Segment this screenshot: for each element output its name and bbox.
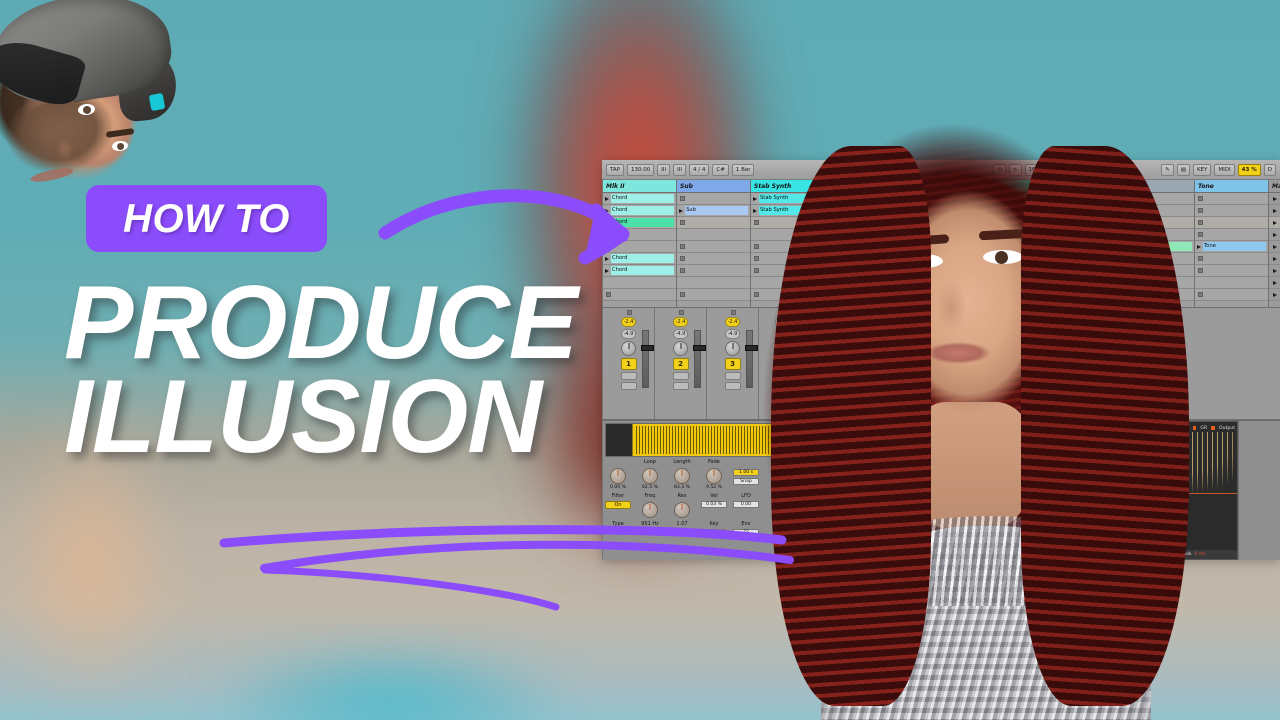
badge-label: HOW TO xyxy=(123,199,290,239)
clip-slot[interactable]: Chord xyxy=(603,205,676,217)
loop-knob[interactable] xyxy=(642,468,658,484)
clip-slot[interactable]: Chord xyxy=(603,253,676,265)
tap-button[interactable]: TAP xyxy=(606,164,624,176)
res-value: 1.07 xyxy=(669,521,695,527)
how-to-badge: HOW TO xyxy=(86,185,327,252)
stop-icon[interactable] xyxy=(680,196,685,201)
hair-front-left xyxy=(771,146,931,706)
woman-portrait xyxy=(735,86,1280,720)
thumbnail-canvas: TAP 130.00 III III 4 / 4 C# 1 Bar → 22 ⟲… xyxy=(0,0,1280,720)
fade-value: 9.52 % xyxy=(701,485,727,490)
res-knob[interactable] xyxy=(674,502,690,518)
title-line-1: PRODUCE xyxy=(64,276,764,370)
freq-label: Freq xyxy=(637,493,663,499)
track-header-label[interactable]: Mlk II xyxy=(603,180,676,193)
key-field[interactable]: C# xyxy=(712,164,728,176)
stop-icon[interactable] xyxy=(680,256,685,261)
metronome-button[interactable]: III xyxy=(657,164,670,176)
clip-slot[interactable] xyxy=(603,229,676,241)
tempo-field[interactable]: 130.00 xyxy=(627,164,654,176)
play-icon[interactable] xyxy=(605,197,609,201)
clip-slot[interactable]: Chord xyxy=(603,217,676,229)
play-icon[interactable] xyxy=(605,221,609,225)
type-spacer xyxy=(605,529,631,536)
vel-field[interactable]: 0.03 % xyxy=(701,501,727,508)
clip-slot[interactable]: Chord xyxy=(603,193,676,205)
title-line-2: ILLUSION xyxy=(64,370,764,464)
start-knob[interactable] xyxy=(610,468,626,484)
lips xyxy=(925,342,991,364)
play-icon[interactable] xyxy=(679,209,683,213)
spacer-2 xyxy=(637,529,663,536)
title-block: PRODUCE ILLUSION xyxy=(64,276,764,464)
length-value: 83.3 % xyxy=(669,485,695,490)
spacer-3 xyxy=(669,529,695,536)
nose xyxy=(931,272,971,336)
stop-icon[interactable] xyxy=(680,244,685,249)
freq-knob[interactable] xyxy=(642,502,658,518)
play-icon[interactable] xyxy=(605,209,609,213)
background-cyan-blur xyxy=(180,610,600,720)
hair-front-right xyxy=(1021,146,1189,706)
stop-icon[interactable] xyxy=(680,220,685,225)
clip-label[interactable]: Chord xyxy=(611,266,674,275)
fade-knob[interactable] xyxy=(706,468,722,484)
nudge-button[interactable]: III xyxy=(673,164,686,176)
man-portrait xyxy=(0,0,187,190)
key-label: Key xyxy=(701,521,727,527)
play-icon[interactable] xyxy=(605,257,609,261)
cap-strap-accent xyxy=(149,93,166,111)
freq-value: 951 Hz xyxy=(637,521,663,527)
play-icon[interactable] xyxy=(605,269,609,273)
filter-label: Filter xyxy=(605,493,631,499)
key-field[interactable]: 100 % xyxy=(701,529,727,536)
clip-label[interactable]: Chord xyxy=(611,194,674,203)
start-value: 0.00 % xyxy=(605,485,631,490)
loop-value: 62.5 % xyxy=(637,485,663,490)
clip-label[interactable]: Chord xyxy=(611,206,674,215)
length-knob[interactable] xyxy=(674,468,690,484)
time-signature-field[interactable]: 4 / 4 xyxy=(689,164,709,176)
stop-icon[interactable] xyxy=(680,268,685,273)
vel-label: Vel xyxy=(701,493,727,499)
clip-slot[interactable] xyxy=(603,241,676,253)
res-label: Res xyxy=(669,493,695,499)
eye-right xyxy=(983,250,1023,264)
clip-label[interactable]: Chord xyxy=(611,218,674,227)
clip-label[interactable]: Chord xyxy=(611,254,674,263)
filter-on-button[interactable]: On xyxy=(605,501,631,509)
type-label: Type xyxy=(605,521,631,527)
